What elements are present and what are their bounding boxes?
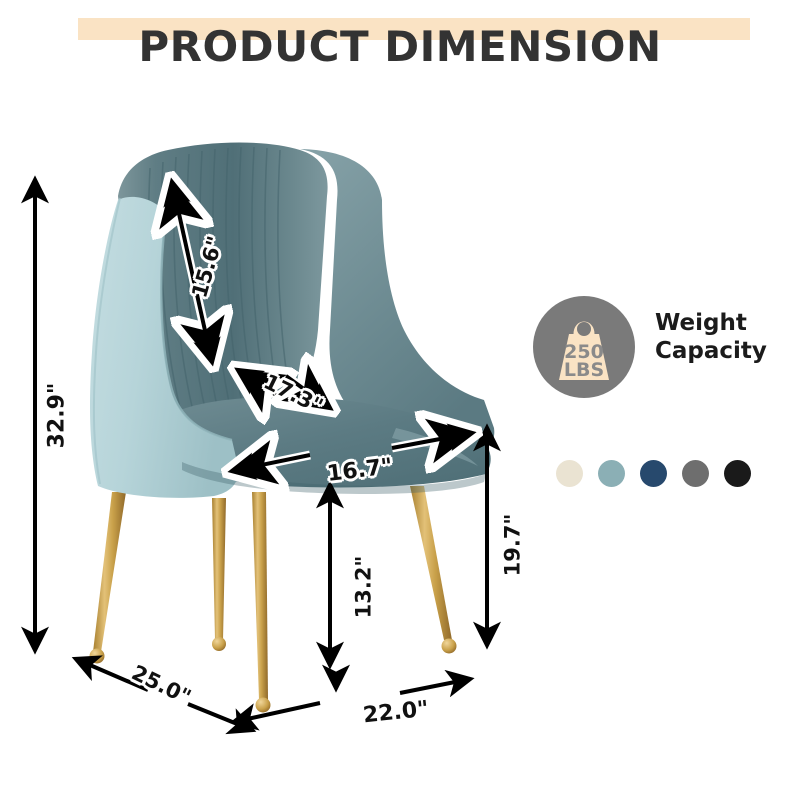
weight-plate-icon: 250 LBS [533, 296, 635, 398]
arrow-depth-b [188, 704, 252, 730]
color-swatch-black[interactable] [724, 460, 751, 487]
arrow-width-left [234, 703, 320, 722]
dimension-label-overall-height: 32.9" [44, 383, 69, 449]
dimension-label-arm-height: 19.7" [500, 514, 524, 577]
color-swatch-light-teal[interactable] [598, 460, 625, 487]
weight-capacity-label-line1: Weight [655, 310, 795, 338]
product-dimension-infographic: PRODUCT DIMENSION [0, 0, 800, 800]
color-swatch-cream[interactable] [556, 460, 583, 487]
weight-capacity-label: Weight Capacity [655, 310, 795, 365]
color-options [556, 460, 756, 492]
color-swatch-gray[interactable] [682, 460, 709, 487]
arrow-width-right [400, 679, 470, 693]
dimension-label-seat-height: 13.2" [351, 556, 375, 619]
weight-unit-text: LBS [564, 359, 604, 381]
weight-capacity-label-line2: Capacity [655, 338, 795, 366]
chair-illustration [0, 0, 800, 800]
dimension-arrows [0, 0, 800, 800]
color-swatch-navy-blue[interactable] [640, 460, 667, 487]
weight-capacity-block: 250 LBS Weight Capacity [533, 296, 783, 396]
